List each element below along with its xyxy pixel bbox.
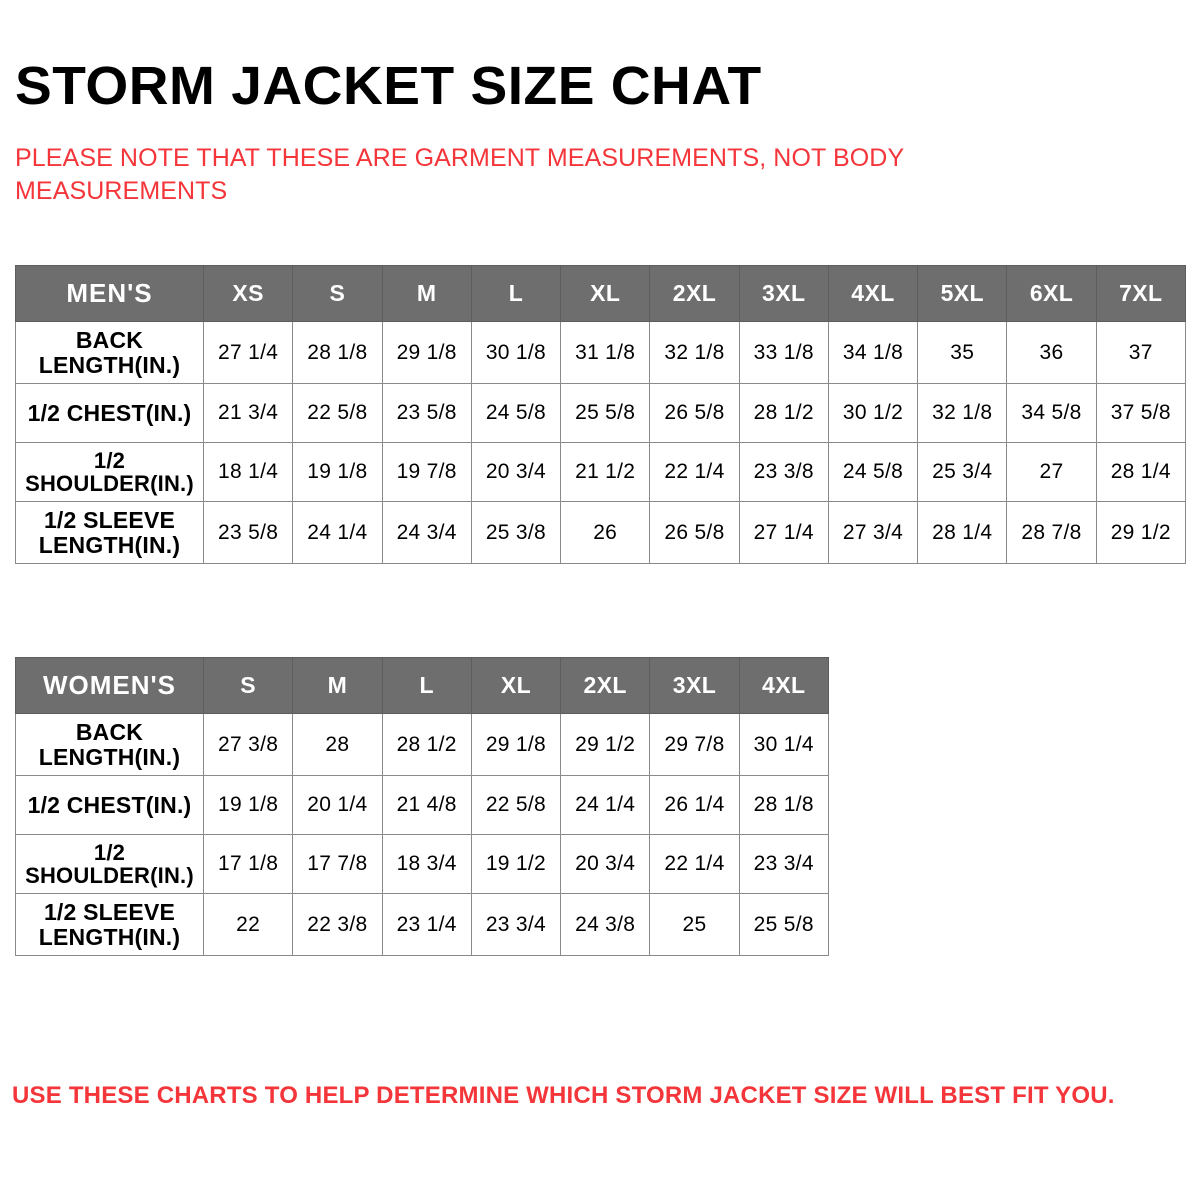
womens-cell-r0-c5: 29 7/8 [650, 714, 739, 776]
womens-cell-r1-c1: 20 1/4 [293, 776, 382, 835]
womens-cell-r0-c4: 29 1/2 [561, 714, 650, 776]
womens-cell-r2-c0: 17 1/8 [204, 835, 293, 894]
womens-cell-r1-c6: 28 1/8 [739, 776, 828, 835]
womens-cell-r3-c6: 25 5/8 [739, 894, 828, 956]
mens-cell-r2-c8: 25 3/4 [918, 443, 1007, 502]
womens-cell-r3-c1: 22 3/8 [293, 894, 382, 956]
row-label-line-1: 1/2 SLEEVE [20, 900, 199, 924]
mens-cell-r0-c4: 31 1/8 [561, 322, 650, 384]
garment-measurement-notice: PLEASE NOTE THAT THESE ARE GARMENT MEASU… [15, 142, 975, 208]
mens-cell-r0-c2: 29 1/8 [382, 322, 471, 384]
row-label-line-1: BACK [20, 328, 199, 352]
mens-cell-r1-c2: 23 5/8 [382, 384, 471, 443]
mens-column-header-xs: XS [204, 266, 293, 322]
womens-cell-r1-c2: 21 4/8 [382, 776, 471, 835]
mens-cell-r0-c0: 27 1/4 [204, 322, 293, 384]
mens-cell-r3-c8: 28 1/4 [918, 502, 1007, 564]
choose-size-notice: USE THESE CHARTS TO HELP DETERMINE WHICH… [12, 1082, 1115, 1110]
row-label-line-2: LENGTH(IN.) [20, 353, 199, 377]
womens-cell-r2-c5: 22 1/4 [650, 835, 739, 894]
mens-cell-r1-c10: 37 5/8 [1096, 384, 1185, 443]
womens-cell-r3-c3: 23 3/4 [471, 894, 560, 956]
womens-cell-r0-c6: 30 1/4 [739, 714, 828, 776]
womens-cell-r3-c4: 24 3/8 [561, 894, 650, 956]
mens-table-body: BACKLENGTH(IN.)27 1/428 1/829 1/830 1/83… [16, 322, 1186, 564]
mens-column-header-7xl: 7XL [1096, 266, 1185, 322]
womens-cell-r3-c5: 25 [650, 894, 739, 956]
mens-cell-r0-c10: 37 [1096, 322, 1185, 384]
mens-cell-r0-c8: 35 [918, 322, 1007, 384]
mens-cell-r1-c5: 26 5/8 [650, 384, 739, 443]
mens-cell-r2-c3: 20 3/4 [471, 443, 560, 502]
womens-column-header-s: S [204, 658, 293, 714]
womens-cell-r0-c0: 27 3/8 [204, 714, 293, 776]
womens-cell-r2-c4: 20 3/4 [561, 835, 650, 894]
womens-cell-r2-c3: 19 1/2 [471, 835, 560, 894]
womens-column-header-3xl: 3XL [650, 658, 739, 714]
womens-column-header-2xl: 2XL [561, 658, 650, 714]
mens-cell-r2-c4: 21 1/2 [561, 443, 650, 502]
mens-cell-r2-c6: 23 3/8 [739, 443, 828, 502]
womens-cell-r2-c2: 18 3/4 [382, 835, 471, 894]
row-label-line-2: LENGTH(IN.) [20, 745, 199, 769]
mens-cell-r2-c0: 18 1/4 [204, 443, 293, 502]
womens-header-row: WOMEN'SSMLXL2XL3XL4XL [16, 658, 829, 714]
womens-column-header-l: L [382, 658, 471, 714]
mens-column-header-xl: XL [561, 266, 650, 322]
womens-cell-r1-c3: 22 5/8 [471, 776, 560, 835]
mens-cell-r0-c6: 33 1/8 [739, 322, 828, 384]
womens-corner-label: WOMEN'S [16, 658, 204, 714]
mens-column-header-4xl: 4XL [828, 266, 917, 322]
womens-cell-r2-c6: 23 3/4 [739, 835, 828, 894]
mens-cell-r0-c1: 28 1/8 [293, 322, 382, 384]
mens-size-table: MEN'SXSSMLXL2XL3XL4XL5XL6XL7XL BACKLENGT… [15, 265, 1186, 564]
mens-cell-r2-c7: 24 5/8 [828, 443, 917, 502]
womens-cell-r3-c0: 22 [204, 894, 293, 956]
mens-cell-r1-c1: 22 5/8 [293, 384, 382, 443]
mens-cell-r0-c5: 32 1/8 [650, 322, 739, 384]
womens-row-label-0: BACKLENGTH(IN.) [16, 714, 204, 776]
mens-row-label-2: 1/2 SHOULDER(IN.) [16, 443, 204, 502]
mens-column-header-m: M [382, 266, 471, 322]
mens-cell-r0-c7: 34 1/8 [828, 322, 917, 384]
mens-cell-r3-c7: 27 3/4 [828, 502, 917, 564]
mens-cell-r3-c5: 26 5/8 [650, 502, 739, 564]
mens-column-header-s: S [293, 266, 382, 322]
womens-column-header-xl: XL [471, 658, 560, 714]
womens-cell-r0-c1: 28 [293, 714, 382, 776]
mens-column-header-5xl: 5XL [918, 266, 1007, 322]
table-row: 1/2 CHEST(IN.)19 1/820 1/421 4/822 5/824… [16, 776, 829, 835]
womens-cell-r1-c5: 26 1/4 [650, 776, 739, 835]
womens-table-head: WOMEN'SSMLXL2XL3XL4XL [16, 658, 829, 714]
womens-cell-r0-c2: 28 1/2 [382, 714, 471, 776]
mens-cell-r1-c6: 28 1/2 [739, 384, 828, 443]
table-row: BACKLENGTH(IN.)27 1/428 1/829 1/830 1/83… [16, 322, 1186, 384]
womens-cell-r1-c4: 24 1/4 [561, 776, 650, 835]
mens-cell-r3-c3: 25 3/8 [471, 502, 560, 564]
table-row: BACKLENGTH(IN.)27 3/82828 1/229 1/829 1/… [16, 714, 829, 776]
mens-cell-r3-c9: 28 7/8 [1007, 502, 1096, 564]
womens-column-header-4xl: 4XL [739, 658, 828, 714]
womens-row-label-1: 1/2 CHEST(IN.) [16, 776, 204, 835]
mens-column-header-6xl: 6XL [1007, 266, 1096, 322]
womens-cell-r1-c0: 19 1/8 [204, 776, 293, 835]
mens-cell-r2-c5: 22 1/4 [650, 443, 739, 502]
mens-cell-r3-c1: 24 1/4 [293, 502, 382, 564]
mens-cell-r3-c10: 29 1/2 [1096, 502, 1185, 564]
row-label-line-2: LENGTH(IN.) [20, 925, 199, 949]
womens-row-label-3: 1/2 SLEEVELENGTH(IN.) [16, 894, 204, 956]
mens-column-header-l: L [471, 266, 560, 322]
womens-column-header-m: M [293, 658, 382, 714]
mens-row-label-1: 1/2 CHEST(IN.) [16, 384, 204, 443]
mens-cell-r3-c2: 24 3/4 [382, 502, 471, 564]
table-row: 1/2 SHOULDER(IN.)17 1/817 7/818 3/419 1/… [16, 835, 829, 894]
page-title: STORM JACKET SIZE CHAT [15, 58, 762, 115]
womens-row-label-2: 1/2 SHOULDER(IN.) [16, 835, 204, 894]
mens-cell-r2-c1: 19 1/8 [293, 443, 382, 502]
womens-size-table: WOMEN'SSMLXL2XL3XL4XL BACKLENGTH(IN.)27 … [15, 657, 829, 956]
table-row: 1/2 SHOULDER(IN.)18 1/419 1/819 7/820 3/… [16, 443, 1186, 502]
mens-cell-r2-c2: 19 7/8 [382, 443, 471, 502]
womens-cell-r0-c3: 29 1/8 [471, 714, 560, 776]
mens-corner-label: MEN'S [16, 266, 204, 322]
row-label-line-2: LENGTH(IN.) [20, 533, 199, 557]
mens-cell-r1-c0: 21 3/4 [204, 384, 293, 443]
womens-cell-r2-c1: 17 7/8 [293, 835, 382, 894]
mens-cell-r1-c4: 25 5/8 [561, 384, 650, 443]
womens-cell-r3-c2: 23 1/4 [382, 894, 471, 956]
row-label-line-1: 1/2 SLEEVE [20, 508, 199, 532]
mens-cell-r3-c0: 23 5/8 [204, 502, 293, 564]
mens-cell-r1-c3: 24 5/8 [471, 384, 560, 443]
mens-row-label-0: BACKLENGTH(IN.) [16, 322, 204, 384]
mens-column-header-2xl: 2XL [650, 266, 739, 322]
mens-cell-r3-c4: 26 [561, 502, 650, 564]
womens-table-body: BACKLENGTH(IN.)27 3/82828 1/229 1/829 1/… [16, 714, 829, 956]
mens-cell-r1-c7: 30 1/2 [828, 384, 917, 443]
mens-cell-r1-c8: 32 1/8 [918, 384, 1007, 443]
mens-cell-r0-c9: 36 [1007, 322, 1096, 384]
mens-cell-r2-c9: 27 [1007, 443, 1096, 502]
table-row: 1/2 CHEST(IN.)21 3/422 5/823 5/824 5/825… [16, 384, 1186, 443]
table-row: 1/2 SLEEVELENGTH(IN.)2222 3/823 1/423 3/… [16, 894, 829, 956]
mens-cell-r3-c6: 27 1/4 [739, 502, 828, 564]
mens-cell-r0-c3: 30 1/8 [471, 322, 560, 384]
size-chart-page: STORM JACKET SIZE CHAT PLEASE NOTE THAT … [0, 0, 1200, 1200]
mens-header-row: MEN'SXSSMLXL2XL3XL4XL5XL6XL7XL [16, 266, 1186, 322]
row-label-line-1: BACK [20, 720, 199, 744]
mens-cell-r1-c9: 34 5/8 [1007, 384, 1096, 443]
table-row: 1/2 SLEEVELENGTH(IN.)23 5/824 1/424 3/42… [16, 502, 1186, 564]
mens-cell-r2-c10: 28 1/4 [1096, 443, 1185, 502]
mens-table-head: MEN'SXSSMLXL2XL3XL4XL5XL6XL7XL [16, 266, 1186, 322]
mens-column-header-3xl: 3XL [739, 266, 828, 322]
mens-row-label-3: 1/2 SLEEVELENGTH(IN.) [16, 502, 204, 564]
